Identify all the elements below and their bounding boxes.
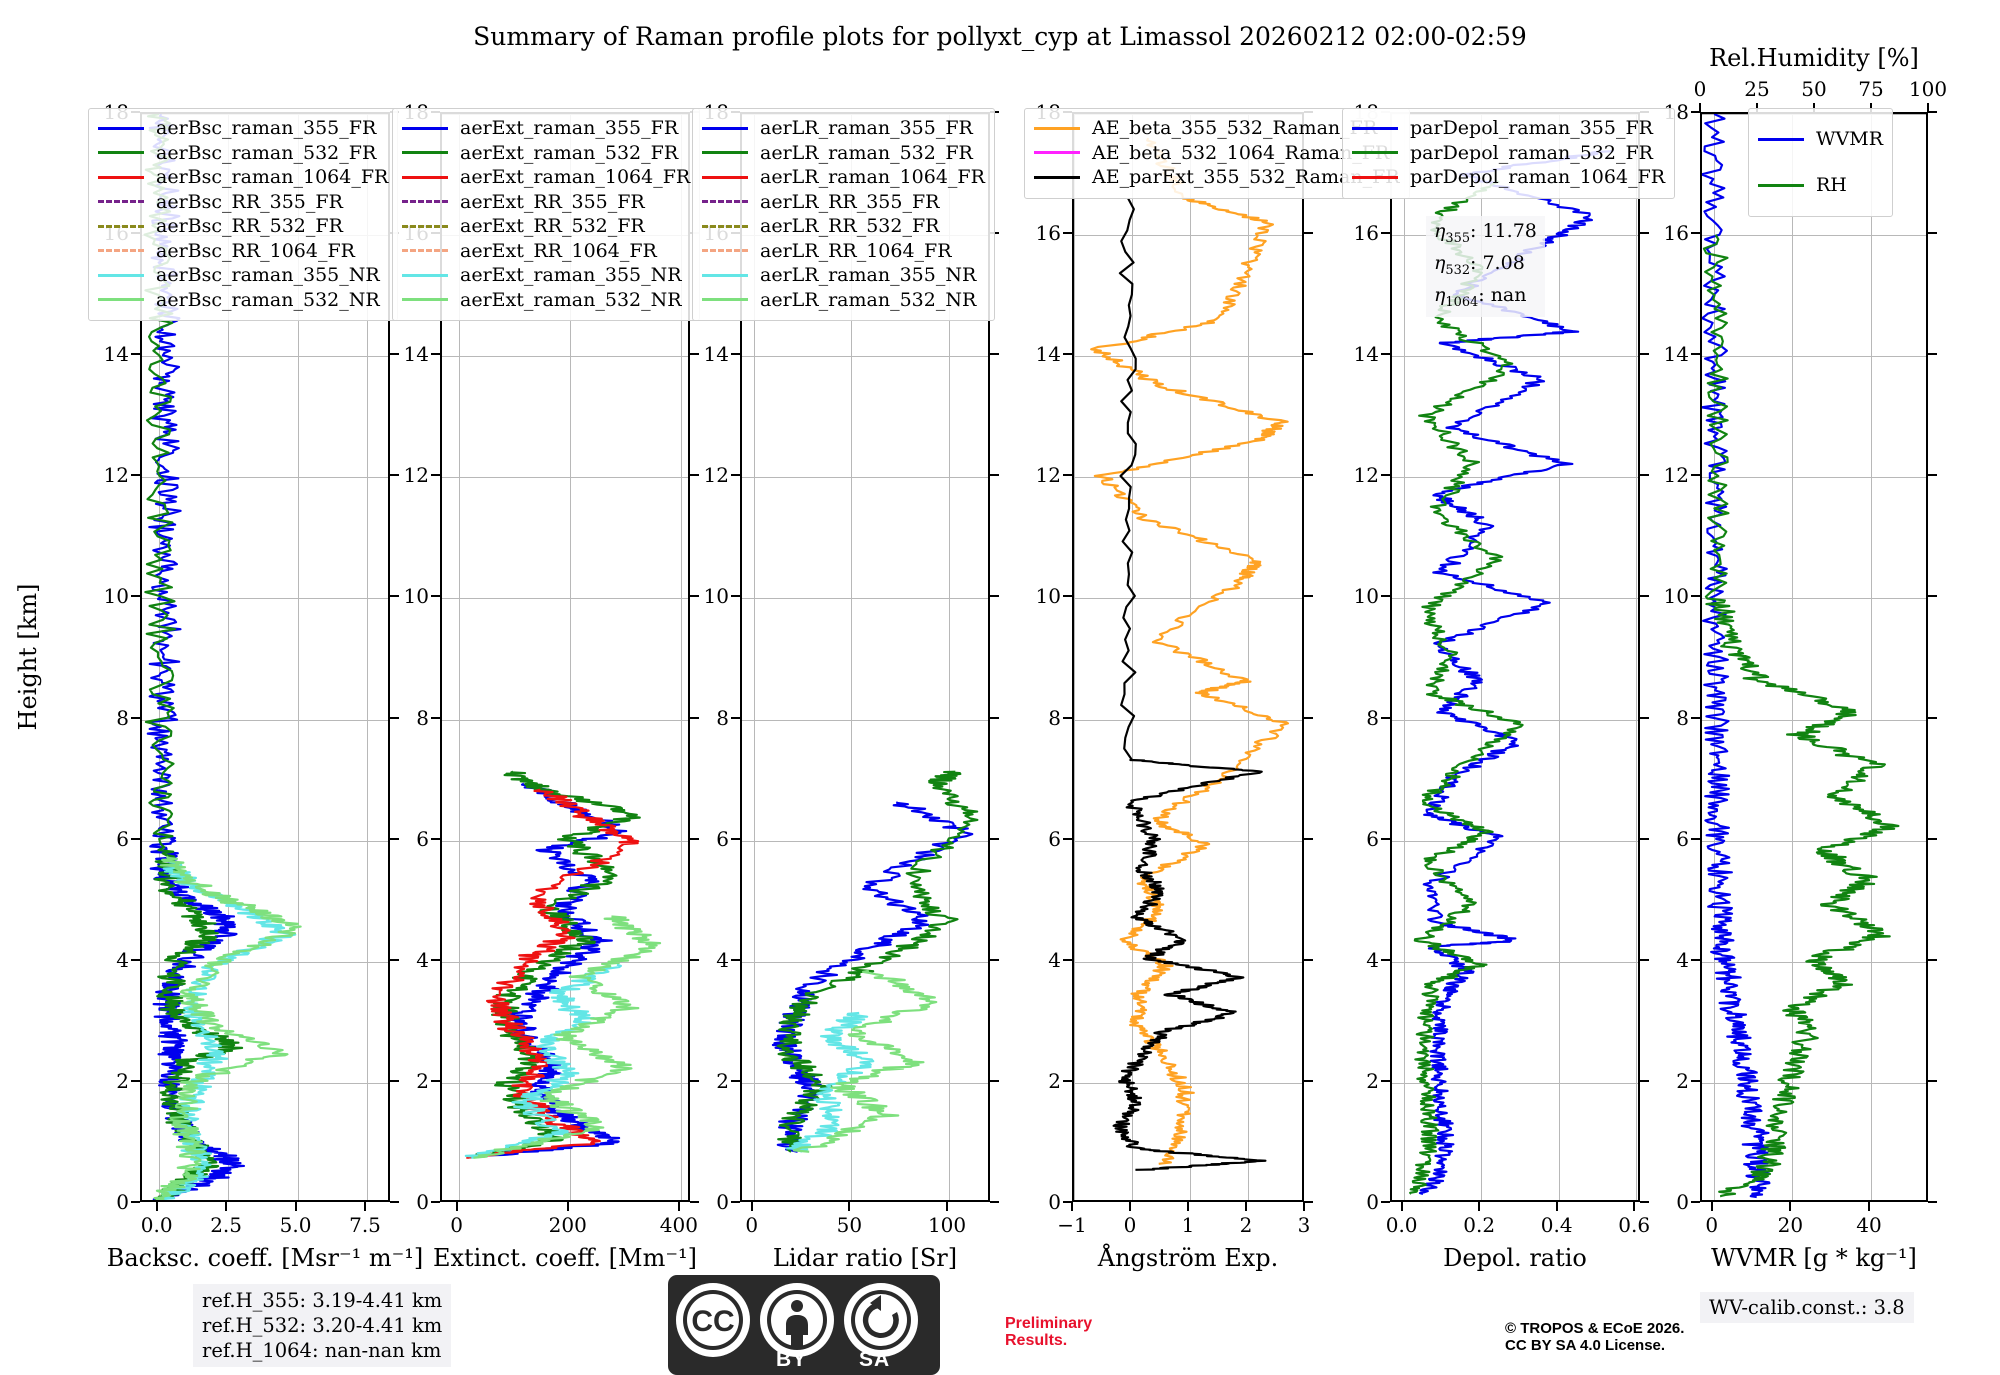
legend-label: aerBsc_raman_355_NR xyxy=(156,263,380,288)
legend-swatch-icon xyxy=(98,200,144,203)
y-tick-mark-right xyxy=(1928,595,1937,597)
legend-swatch-icon xyxy=(702,151,748,154)
y-tick-mark xyxy=(1691,111,1700,113)
series-RH xyxy=(1704,235,1898,1197)
y-tick-mark xyxy=(1691,353,1700,355)
x-tick-label: 0.2 xyxy=(1463,1213,1495,1237)
legend-item: aerExt_raman_355_FR xyxy=(402,116,690,141)
y-tick-mark xyxy=(1381,959,1390,961)
y-tick-mark xyxy=(1381,232,1390,234)
recycle-glyph xyxy=(850,1289,912,1351)
legend-item: WVMR xyxy=(1758,116,1883,162)
y-tick-mark xyxy=(1691,717,1700,719)
y-tick-label: 14 xyxy=(1354,342,1379,366)
x-tick-mark xyxy=(1303,1202,1305,1211)
legend-swatch-icon xyxy=(1352,176,1398,179)
y-tick-label: 14 xyxy=(1664,342,1689,366)
series-parDepol_raman_532_FR xyxy=(1410,180,1522,1194)
y-tick-mark-right xyxy=(1304,838,1313,840)
y-tick-mark-right xyxy=(1640,474,1649,476)
y-tick-mark xyxy=(1381,717,1390,719)
y-tick-label: 4 xyxy=(1366,948,1379,972)
y-tick-label: 0 xyxy=(1048,1190,1061,1214)
y-tick-label: 6 xyxy=(1676,827,1689,851)
legend-item: aerBsc_raman_355_FR xyxy=(98,116,388,141)
y-tick-mark-right xyxy=(1928,959,1937,961)
y-tick-label: 6 xyxy=(116,827,129,851)
y-tick-mark-right xyxy=(390,474,399,476)
y-tick-label: 4 xyxy=(416,948,429,972)
y-tick-mark-right xyxy=(1928,111,1937,113)
x-tick-label: 1 xyxy=(1182,1213,1195,1237)
legend-item: aerExt_raman_532_NR xyxy=(402,288,690,313)
y-tick-mark xyxy=(431,717,440,719)
legend-item: aerLR_raman_355_NR xyxy=(702,263,985,288)
y-tick-mark-right xyxy=(990,838,999,840)
y-tick-label: 6 xyxy=(716,827,729,851)
eta-row: η532: 7.08 xyxy=(1434,251,1537,283)
legend-lidarratio[interactable]: aerLR_raman_355_FRaerLR_raman_532_FRaerL… xyxy=(692,108,995,321)
svg-text:CC: CC xyxy=(691,1305,734,1338)
legend-label: aerExt_raman_532_FR xyxy=(460,141,678,166)
x-tick-label: 0.0 xyxy=(1386,1213,1418,1237)
legend-item: aerLR_RR_532_FR xyxy=(702,214,985,239)
x-tick-mark xyxy=(1478,1202,1480,1211)
y-tick-mark xyxy=(1691,1080,1700,1082)
y-tick-mark xyxy=(131,595,140,597)
y-tick-mark-right xyxy=(1640,595,1649,597)
y-tick-label: 12 xyxy=(704,463,729,487)
legend-label: aerBsc_raman_532_NR xyxy=(156,288,380,313)
y-tick-mark xyxy=(1063,838,1072,840)
y-tick-label: 14 xyxy=(704,342,729,366)
legend-label: aerLR_RR_355_FR xyxy=(760,190,939,215)
legend-swatch-icon xyxy=(1758,184,1804,187)
y-tick-mark-right xyxy=(990,1201,999,1203)
y-tick-label: 8 xyxy=(1366,706,1379,730)
y-tick-label: 12 xyxy=(404,463,429,487)
curves-wvmr xyxy=(1702,114,1926,1200)
legend-swatch-icon xyxy=(98,298,144,301)
legend-swatch-icon xyxy=(702,274,748,277)
y-tick-label: 8 xyxy=(116,706,129,730)
y-tick-mark-right xyxy=(690,353,699,355)
x-tick-label: 400 xyxy=(660,1213,698,1237)
legend-item: aerBsc_RR_355_FR xyxy=(98,190,388,215)
y-tick-label: 0 xyxy=(116,1190,129,1214)
legend-swatch-icon xyxy=(1034,176,1080,179)
x-tick-label: 0 xyxy=(1705,1213,1718,1237)
y-tick-mark xyxy=(1063,232,1072,234)
y-tick-mark-right xyxy=(390,1201,399,1203)
y-tick-mark-right xyxy=(1928,717,1937,719)
eta-row: η1064: nan xyxy=(1434,283,1537,315)
y-tick-mark-right xyxy=(1304,474,1313,476)
x-tick-label: 200 xyxy=(549,1213,587,1237)
y-tick-mark xyxy=(731,474,740,476)
x-tick-mark xyxy=(1401,1202,1403,1211)
x-tick-label: 5.0 xyxy=(280,1213,312,1237)
y-tick-mark-right xyxy=(1304,1201,1313,1203)
y-tick-mark-right xyxy=(1928,353,1937,355)
x-axis-label-angstrom: Ångström Exp. xyxy=(1098,1244,1278,1272)
y-tick-mark-right xyxy=(390,1080,399,1082)
panel-wvmr: 020400255075100Rel.Humidity [%]024681012… xyxy=(1700,112,1928,1202)
legend-swatch-icon xyxy=(702,225,748,228)
panel-extinction: 0200400024681012141618aerExt_raman_355_F… xyxy=(440,112,690,1202)
legend-label: aerExt_raman_355_NR xyxy=(460,263,682,288)
legend-item: aerExt_RR_1064_FR xyxy=(402,239,690,264)
legend-label: aerBsc_raman_1064_FR xyxy=(156,165,388,190)
y-tick-label: 10 xyxy=(1664,584,1689,608)
legend-swatch-icon xyxy=(98,225,144,228)
legend-item: aerExt_raman_532_FR xyxy=(402,141,690,166)
cc-license-badge: CC BY SA xyxy=(668,1275,940,1375)
y-tick-mark xyxy=(1063,1201,1072,1203)
legend-item: aerBsc_raman_532_NR xyxy=(98,288,388,313)
share-alike-icon xyxy=(844,1283,918,1357)
y-tick-mark xyxy=(731,1201,740,1203)
x-tick-label: 100 xyxy=(928,1213,966,1237)
y-tick-mark xyxy=(1381,1201,1390,1203)
x-tick-label: 0 xyxy=(450,1213,463,1237)
panel-lidarratio: 050100024681012141618aerLR_raman_355_FRa… xyxy=(740,112,990,1202)
y-tick-label: 4 xyxy=(716,948,729,972)
legend-item: aerExt_RR_532_FR xyxy=(402,214,690,239)
legend-item: aerExt_raman_355_NR xyxy=(402,263,690,288)
legend-item: aerExt_RR_355_FR xyxy=(402,190,690,215)
y-tick-mark xyxy=(1691,959,1700,961)
y-tick-mark xyxy=(431,1201,440,1203)
plot-area-wvmr xyxy=(1700,112,1928,1202)
y-tick-label: 2 xyxy=(116,1069,129,1093)
legend-depol[interactable]: parDepol_raman_355_FRparDepol_raman_532_… xyxy=(1342,108,1675,199)
y-tick-mark xyxy=(131,959,140,961)
y-tick-mark-right xyxy=(1928,838,1937,840)
legend-item: aerExt_raman_1064_FR xyxy=(402,165,690,190)
preliminary-results-note: Preliminary Results. xyxy=(1005,1315,1092,1349)
series-aerBsc_raman_532_NR xyxy=(154,856,300,1200)
x-tick-label-top: 100 xyxy=(1909,77,1947,101)
cc-badge-sa-label: SA xyxy=(859,1348,890,1372)
cc-icon: CC xyxy=(676,1283,750,1357)
x-tick-label: 0.4 xyxy=(1541,1213,1573,1237)
legend-label: aerLR_RR_1064_FR xyxy=(760,239,952,264)
y-tick-label: 0 xyxy=(416,1190,429,1214)
y-tick-mark-right xyxy=(990,1080,999,1082)
y-tick-label: 8 xyxy=(1676,706,1689,730)
x-tick-mark xyxy=(946,1202,948,1211)
x-tick-mark xyxy=(1245,1202,1247,1211)
legend-wvmr[interactable]: WVMRRH xyxy=(1748,108,1893,217)
y-tick-mark-right xyxy=(390,717,399,719)
y-tick-mark xyxy=(131,474,140,476)
x-tick-label: 3 xyxy=(1298,1213,1311,1237)
y-tick-mark-right xyxy=(990,959,999,961)
legend-label: aerLR_raman_355_FR xyxy=(760,116,973,141)
y-tick-mark xyxy=(1381,1080,1390,1082)
y-tick-label: 4 xyxy=(1676,948,1689,972)
x-tick-mark xyxy=(364,1202,366,1211)
legend-label: aerExt_RR_1064_FR xyxy=(460,239,657,264)
legend-label: aerExt_raman_1064_FR xyxy=(460,165,690,190)
y-tick-mark xyxy=(431,595,440,597)
x-tick-mark xyxy=(848,1202,850,1211)
y-tick-mark-right xyxy=(390,838,399,840)
legend-swatch-icon xyxy=(402,249,448,252)
page-title: Summary of Raman profile plots for polly… xyxy=(0,22,2000,51)
y-tick-mark xyxy=(131,838,140,840)
x-tick-mark xyxy=(1868,1202,1870,1211)
y-tick-mark-right xyxy=(1640,717,1649,719)
x-tick-label-top: 25 xyxy=(1744,77,1769,101)
y-tick-label: 10 xyxy=(704,584,729,608)
y-tick-mark xyxy=(1381,595,1390,597)
person-glyph xyxy=(766,1289,828,1351)
legend-item: aerLR_raman_532_NR xyxy=(702,288,985,313)
y-tick-mark-right xyxy=(1640,1080,1649,1082)
y-tick-label: 0 xyxy=(716,1190,729,1214)
legend-label: aerExt_RR_355_FR xyxy=(460,190,645,215)
y-tick-mark-right xyxy=(390,959,399,961)
series-AE_beta_355_532_Raman_FR xyxy=(1091,138,1288,1164)
legend-item: aerLR_RR_1064_FR xyxy=(702,239,985,264)
legend-backscatter[interactable]: aerBsc_raman_355_FRaerBsc_raman_532_FRae… xyxy=(88,108,398,321)
x-axis-label-lidarratio: Lidar ratio [Sr] xyxy=(773,1244,957,1272)
y-tick-label: 8 xyxy=(1048,706,1061,730)
y-tick-mark-right xyxy=(1304,353,1313,355)
y-tick-mark xyxy=(1063,474,1072,476)
legend-item: aerBsc_RR_1064_FR xyxy=(98,239,388,264)
y-tick-mark-right xyxy=(390,353,399,355)
legend-swatch-icon xyxy=(98,151,144,154)
legend-swatch-icon xyxy=(1034,127,1080,130)
x-tick-label-top: 0 xyxy=(1694,77,1707,101)
y-tick-mark-right xyxy=(990,353,999,355)
y-tick-mark-right xyxy=(1304,595,1313,597)
y-tick-mark xyxy=(1381,838,1390,840)
y-tick-mark xyxy=(431,959,440,961)
legend-swatch-icon xyxy=(702,127,748,130)
legend-swatch-icon xyxy=(1758,138,1804,141)
x-tick-mark xyxy=(567,1202,569,1211)
legend-label: aerLR_raman_532_FR xyxy=(760,141,973,166)
x-tick-mark xyxy=(1129,1202,1131,1211)
cc-badge-by-label: BY xyxy=(776,1348,807,1372)
y-tick-label: 2 xyxy=(716,1069,729,1093)
legend-swatch-icon xyxy=(402,274,448,277)
y-tick-label: 0 xyxy=(1676,1190,1689,1214)
y-tick-mark xyxy=(1691,232,1700,234)
legend-label: parDepol_raman_1064_FR xyxy=(1410,165,1665,190)
y-tick-mark-right xyxy=(1640,838,1649,840)
x-axis-label-top: Rel.Humidity [%] xyxy=(1709,44,1919,72)
y-tick-label: 2 xyxy=(1048,1069,1061,1093)
y-tick-mark xyxy=(1691,474,1700,476)
legend-label: aerBsc_RR_532_FR xyxy=(156,214,343,239)
y-tick-label: 6 xyxy=(416,827,429,851)
legend-swatch-icon xyxy=(1352,127,1398,130)
x-tick-mark xyxy=(1071,1202,1073,1211)
legend-swatch-icon xyxy=(402,298,448,301)
legend-label: parDepol_raman_532_FR xyxy=(1410,141,1653,166)
legend-swatch-icon xyxy=(98,274,144,277)
y-tick-label: 14 xyxy=(404,342,429,366)
y-axis-label: Height [km] xyxy=(14,584,42,731)
legend-label: aerExt_raman_355_FR xyxy=(460,116,678,141)
x-tick-mark xyxy=(1187,1202,1189,1211)
y-tick-mark-right xyxy=(690,717,699,719)
legend-item: aerBsc_raman_355_NR xyxy=(98,263,388,288)
x-tick-mark xyxy=(1789,1202,1791,1211)
ref-heights-annotation: ref.H_355: 3.19-4.41 km ref.H_532: 3.20-… xyxy=(193,1284,451,1367)
y-tick-mark-right xyxy=(1640,1201,1649,1203)
y-tick-label: 6 xyxy=(1048,827,1061,851)
y-tick-label: 12 xyxy=(104,463,129,487)
x-tick-mark xyxy=(295,1202,297,1211)
legend-label: aerLR_raman_355_NR xyxy=(760,263,976,288)
wv-calib-annotation: WV-calib.const.: 3.8 xyxy=(1700,1292,1914,1323)
y-tick-mark-right xyxy=(1928,1201,1937,1203)
y-tick-mark xyxy=(731,353,740,355)
y-tick-label: 12 xyxy=(1664,463,1689,487)
x-tick-mark xyxy=(1556,1202,1558,1211)
y-tick-label: 4 xyxy=(116,948,129,972)
y-tick-mark xyxy=(1691,838,1700,840)
y-tick-mark xyxy=(431,838,440,840)
panel-depol: 0.00.20.40.6024681012141618parDepol_rama… xyxy=(1390,112,1640,1202)
x-tick-label: 2 xyxy=(1240,1213,1253,1237)
y-tick-mark-right xyxy=(690,959,699,961)
x-tick-label: 7.5 xyxy=(349,1213,381,1237)
y-tick-mark xyxy=(131,353,140,355)
x-tick-mark xyxy=(1711,1202,1713,1211)
y-tick-mark-right xyxy=(990,474,999,476)
x-tick-label: −1 xyxy=(1057,1213,1086,1237)
plot-area-angstrom xyxy=(1072,112,1304,1202)
legend-swatch-icon xyxy=(702,249,748,252)
y-tick-label: 16 xyxy=(1664,221,1689,245)
y-tick-mark-right xyxy=(690,595,699,597)
y-tick-label: 2 xyxy=(1366,1069,1379,1093)
y-tick-mark xyxy=(731,717,740,719)
x-axis-label-depol: Depol. ratio xyxy=(1443,1244,1587,1272)
legend-label: aerBsc_RR_1064_FR xyxy=(156,239,355,264)
legend-swatch-icon xyxy=(702,298,748,301)
y-tick-mark xyxy=(1063,959,1072,961)
y-tick-mark-right xyxy=(1304,717,1313,719)
y-tick-label: 10 xyxy=(1036,584,1061,608)
y-tick-mark xyxy=(731,838,740,840)
legend-label: aerBsc_RR_355_FR xyxy=(156,190,343,215)
y-tick-mark xyxy=(731,595,740,597)
y-tick-mark-right xyxy=(690,1080,699,1082)
x-tick-mark xyxy=(751,1202,753,1211)
y-tick-mark-right xyxy=(1640,959,1649,961)
y-tick-mark xyxy=(131,1080,140,1082)
x-tick-label: 0 xyxy=(1124,1213,1137,1237)
y-tick-mark-right xyxy=(990,595,999,597)
y-tick-label: 6 xyxy=(1366,827,1379,851)
x-tick-mark xyxy=(1633,1202,1635,1211)
y-tick-label: 16 xyxy=(1354,221,1379,245)
y-tick-label: 2 xyxy=(416,1069,429,1093)
y-tick-mark-right xyxy=(1928,1080,1937,1082)
legend-item: parDepol_raman_532_FR xyxy=(1352,141,1665,166)
legend-item: aerLR_raman_532_FR xyxy=(702,141,985,166)
legend-label: WVMR xyxy=(1816,116,1883,162)
y-tick-mark-right xyxy=(1928,232,1937,234)
legend-item: aerLR_RR_355_FR xyxy=(702,190,985,215)
y-tick-mark xyxy=(1063,717,1072,719)
legend-label: aerLR_raman_532_NR xyxy=(760,288,976,313)
legend-swatch-icon xyxy=(1352,151,1398,154)
x-axis-label-wvmr: WVMR [g * kg⁻¹] xyxy=(1711,1244,1917,1272)
series-aerLR_raman_532_FR xyxy=(778,772,978,1152)
eta-annotation: η355: 11.78η532: 7.08η1064: nan xyxy=(1426,216,1545,317)
y-tick-mark xyxy=(731,959,740,961)
y-tick-mark-right xyxy=(1304,232,1313,234)
y-tick-mark xyxy=(1063,595,1072,597)
legend-label: RH xyxy=(1816,162,1847,208)
y-tick-label: 12 xyxy=(1036,463,1061,487)
x-tick-label: 0 xyxy=(745,1213,758,1237)
y-tick-label: 10 xyxy=(1354,584,1379,608)
y-tick-label: 14 xyxy=(1036,342,1061,366)
x-tick-label: 0.6 xyxy=(1618,1213,1650,1237)
legend-item: RH xyxy=(1758,162,1883,208)
x-tick-label: 50 xyxy=(837,1213,862,1237)
y-tick-mark xyxy=(1381,474,1390,476)
y-tick-mark-right xyxy=(690,838,699,840)
y-tick-label: 4 xyxy=(1048,948,1061,972)
y-tick-label: 10 xyxy=(404,584,429,608)
x-axis-label-extinction: Extinct. coeff. [Mm⁻¹] xyxy=(433,1244,697,1272)
legend-label: aerBsc_raman_532_FR xyxy=(156,141,376,166)
y-tick-label: 2 xyxy=(1676,1069,1689,1093)
y-tick-mark xyxy=(431,1080,440,1082)
legend-swatch-icon xyxy=(98,176,144,179)
y-tick-mark xyxy=(1691,1201,1700,1203)
y-tick-mark xyxy=(1381,353,1390,355)
y-tick-mark xyxy=(131,717,140,719)
x-tick-mark xyxy=(456,1202,458,1211)
legend-swatch-icon xyxy=(1034,151,1080,154)
y-tick-mark xyxy=(431,474,440,476)
legend-item: aerBsc_RR_532_FR xyxy=(98,214,388,239)
legend-swatch-icon xyxy=(402,127,448,130)
legend-item: aerBsc_raman_532_FR xyxy=(98,141,388,166)
curves-angstrom xyxy=(1074,114,1302,1200)
legend-extinction[interactable]: aerExt_raman_355_FRaerExt_raman_532_FRae… xyxy=(392,108,700,321)
x-axis-label-backscatter: Backsc. coeff. [Msr⁻¹ m⁻¹] xyxy=(107,1244,424,1272)
x-tick-label: 2.5 xyxy=(210,1213,242,1237)
legend-swatch-icon xyxy=(702,200,748,203)
legend-swatch-icon xyxy=(402,151,448,154)
y-tick-label: 12 xyxy=(1354,463,1379,487)
y-tick-label: 8 xyxy=(416,706,429,730)
x-tick-label-top: 50 xyxy=(1801,77,1826,101)
legend-swatch-icon xyxy=(98,249,144,252)
y-tick-mark xyxy=(431,353,440,355)
y-tick-mark-right xyxy=(690,1201,699,1203)
y-tick-mark-right xyxy=(990,717,999,719)
copyright-note: © TROPOS & ECoE 2026. CC BY SA 4.0 Licen… xyxy=(1505,1320,1684,1354)
x-tick-label: 20 xyxy=(1778,1213,1803,1237)
legend-swatch-icon xyxy=(402,176,448,179)
legend-swatch-icon xyxy=(702,176,748,179)
legend-label: aerExt_RR_532_FR xyxy=(460,214,645,239)
